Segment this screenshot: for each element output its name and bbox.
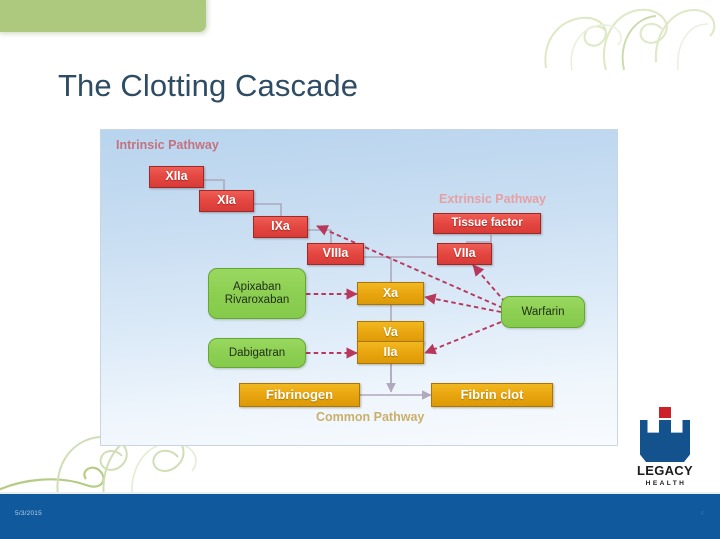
node-factor-viia[interactable]: VIIa	[437, 243, 492, 265]
node-factor-xia[interactable]: XIa	[199, 190, 254, 212]
clotting-cascade-diagram: Intrinsic Pathway Extrinsic Pathway Comm…	[100, 129, 618, 446]
footer-bar: 5/3/2015 4	[0, 492, 720, 539]
swirl-decoration-top-right	[528, 0, 718, 70]
node-factor-xiia[interactable]: XIIa	[149, 166, 204, 188]
node-fibrinogen[interactable]: Fibrinogen	[239, 383, 360, 407]
drug-name-rivaroxaban: Rivaroxaban	[225, 294, 290, 306]
node-fibrin-clot[interactable]: Fibrin clot	[431, 383, 553, 407]
node-factor-iia[interactable]: IIa	[357, 341, 424, 364]
logo-wordmark: LEGACY	[632, 464, 698, 477]
legacy-health-logo: LEGACY HEALTH	[632, 405, 698, 487]
node-factor-xa[interactable]: Xa	[357, 282, 424, 305]
logo-red-square	[659, 407, 671, 418]
node-factor-viiia[interactable]: VIIIa	[307, 243, 364, 265]
node-drug-warfarin[interactable]: Warfarin	[501, 296, 585, 328]
legacy-crown-icon	[632, 405, 698, 463]
footer-page-number: 4	[700, 510, 704, 517]
label-intrinsic-pathway: Intrinsic Pathway	[116, 138, 219, 152]
logo-blue-crown	[640, 420, 690, 462]
label-extrinsic-pathway: Extrinsic Pathway	[439, 192, 546, 206]
node-factor-ixa[interactable]: IXa	[253, 216, 308, 238]
node-tissue-factor[interactable]: Tissue factor	[433, 213, 541, 234]
footer-date: 5/3/2015	[15, 510, 42, 517]
logo-subtext: HEALTH	[632, 480, 698, 487]
node-drug-apixaban-rivaroxaban[interactable]: Apixaban Rivaroxaban	[208, 268, 306, 319]
top-green-accent-bar	[0, 0, 206, 32]
page-title: The Clotting Cascade	[58, 68, 358, 104]
node-drug-dabigatran[interactable]: Dabigatran	[208, 338, 306, 368]
slide-canvas: The Clotting Cascade	[0, 0, 720, 539]
drug-name-apixaban: Apixaban	[233, 281, 281, 293]
label-common-pathway: Common Pathway	[316, 410, 424, 424]
